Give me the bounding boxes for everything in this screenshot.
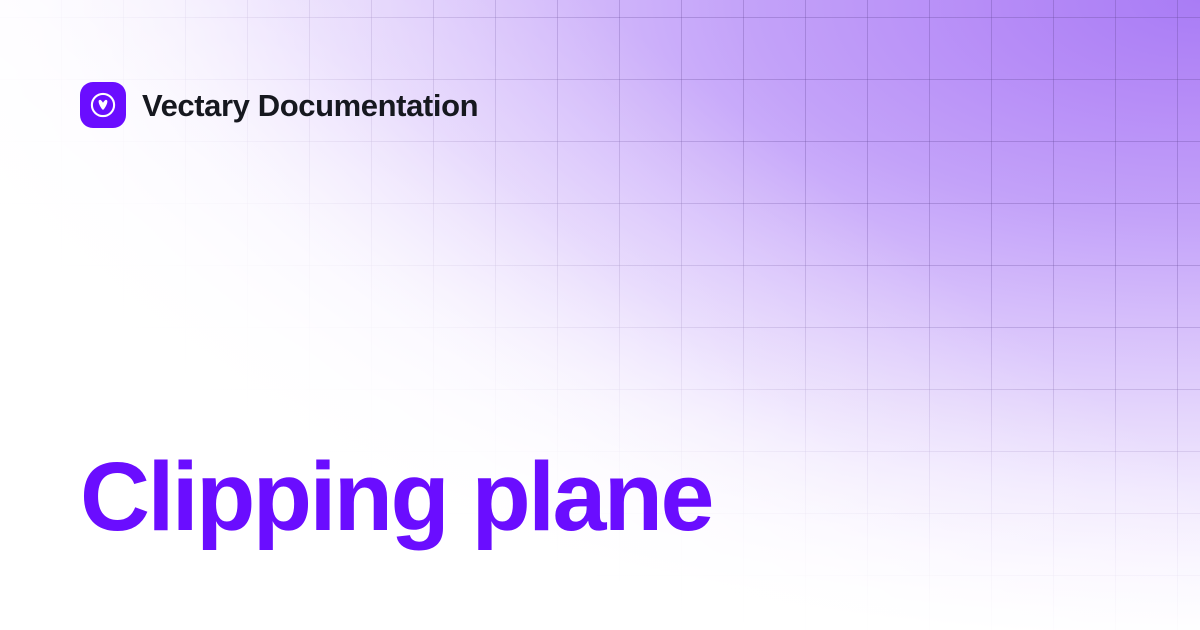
vectary-logo-icon [80,82,126,128]
brand-header: Vectary Documentation [80,82,478,128]
page-title: Clipping plane [80,448,712,545]
card-content: Vectary Documentation Clipping plane [0,0,1200,630]
og-card: Vectary Documentation Clipping plane [0,0,1200,630]
brand-title: Vectary Documentation [142,90,478,121]
